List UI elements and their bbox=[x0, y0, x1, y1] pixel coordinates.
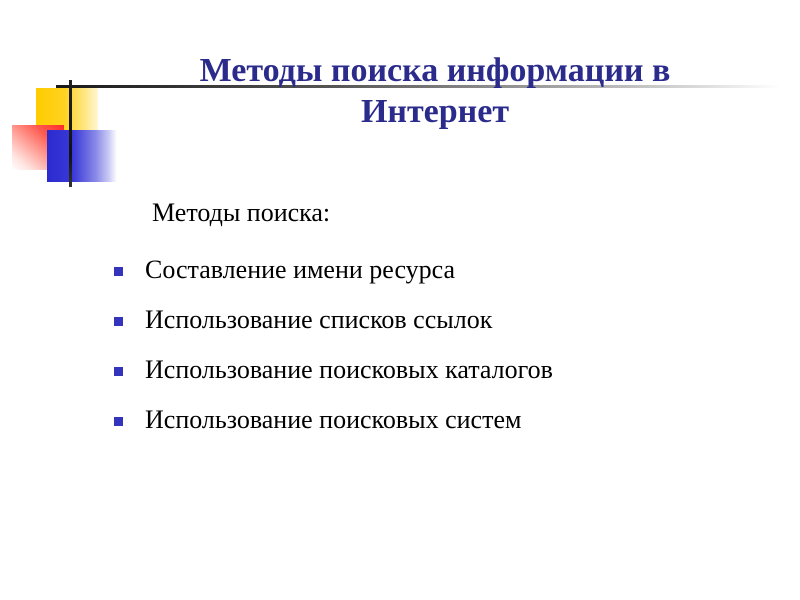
yellow-square-shape bbox=[36, 88, 98, 140]
slide-canvas: Методы поиска информации в Интернет Мето… bbox=[0, 0, 800, 600]
list-item-label: Использование списков ссылок bbox=[145, 295, 492, 345]
lead-text: Методы поиска: bbox=[152, 188, 770, 237]
red-square-shape bbox=[12, 125, 64, 170]
square-bullet-icon bbox=[114, 417, 123, 426]
vertical-rule bbox=[69, 80, 72, 187]
body-content: Методы поиска: Составление имени ресурса… bbox=[110, 188, 770, 445]
square-bullet-icon bbox=[114, 367, 123, 376]
title-line-1: Методы поиска информации в bbox=[100, 50, 770, 91]
list-item: Использование поисковых каталогов bbox=[110, 345, 770, 395]
title-line-2: Интернет bbox=[100, 91, 770, 132]
list-item-label: Использование поисковых каталогов bbox=[145, 345, 553, 395]
list-item: Составление имени ресурса bbox=[110, 245, 770, 295]
list-item-label: Составление имени ресурса bbox=[145, 245, 455, 295]
square-bullet-icon bbox=[114, 317, 123, 326]
list-item: Использование поисковых систем bbox=[110, 395, 770, 445]
list-item-label: Использование поисковых систем bbox=[145, 395, 521, 445]
bullet-list: Составление имени ресурса Использование … bbox=[110, 245, 770, 445]
page-title: Методы поиска информации в Интернет bbox=[100, 50, 770, 132]
list-item: Использование списков ссылок bbox=[110, 295, 770, 345]
square-bullet-icon bbox=[114, 267, 123, 276]
blue-square-shape bbox=[47, 130, 117, 182]
